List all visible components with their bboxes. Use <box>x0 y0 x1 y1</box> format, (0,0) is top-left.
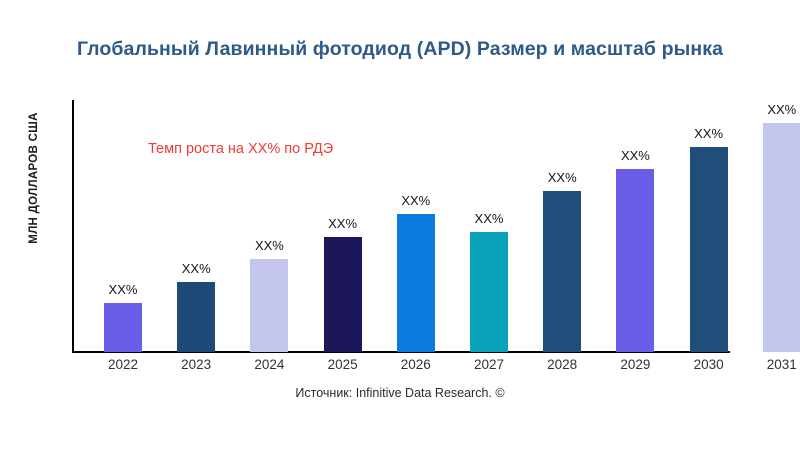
plot-area: XX%XX%XX%XX%XX%XX%XX%XX%XX%XX% <box>72 100 782 352</box>
bar-2026[interactable] <box>397 214 435 352</box>
x-tick-label-2025: 2025 <box>313 357 373 372</box>
bar-group-2030: XX% <box>690 100 728 352</box>
x-tick-label-2027: 2027 <box>459 357 519 372</box>
bar-2022[interactable] <box>104 303 142 352</box>
x-tick-label-2029: 2029 <box>605 357 665 372</box>
bar-group-2029: XX% <box>616 100 654 352</box>
x-tick-label-2024: 2024 <box>239 357 299 372</box>
bar-2025[interactable] <box>324 237 362 352</box>
y-axis-label: МЛН ДОЛЛАРОВ США <box>28 48 40 308</box>
bar-2028[interactable] <box>543 191 581 352</box>
bar-group-2025: XX% <box>324 100 362 352</box>
bar-2023[interactable] <box>177 282 215 352</box>
bar-2029[interactable] <box>616 169 654 352</box>
x-axis-tick-labels: 2022202320242025202620272028202920302031 <box>72 357 782 379</box>
bar-value-label-2027: XX% <box>459 211 519 226</box>
x-tick-label-2030: 2030 <box>679 357 739 372</box>
bar-value-label-2026: XX% <box>386 193 446 208</box>
source-note: Источник: Infinitive Data Research. © <box>0 386 800 400</box>
bar-group-2027: XX% <box>470 100 508 352</box>
x-tick-label-2031: 2031 <box>752 357 800 372</box>
bar-value-label-2030: XX% <box>679 126 739 141</box>
bar-value-label-2023: XX% <box>166 261 226 276</box>
bar-group-2031: XX% <box>763 100 800 352</box>
bar-value-label-2028: XX% <box>532 170 592 185</box>
bar-group-2028: XX% <box>543 100 581 352</box>
bar-2024[interactable] <box>250 259 288 352</box>
bar-value-label-2025: XX% <box>313 216 373 231</box>
bar-group-2022: XX% <box>104 100 142 352</box>
bar-value-label-2022: XX% <box>93 282 153 297</box>
bar-value-label-2031: XX% <box>752 102 800 117</box>
bar-group-2024: XX% <box>250 100 288 352</box>
bar-value-label-2024: XX% <box>239 238 299 253</box>
chart-title: Глобальный Лавинный фотодиод (APD) Разме… <box>0 38 800 61</box>
bar-2027[interactable] <box>470 232 508 352</box>
x-tick-label-2023: 2023 <box>166 357 226 372</box>
bar-group-2023: XX% <box>177 100 215 352</box>
bar-group-2026: XX% <box>397 100 435 352</box>
bar-2031[interactable] <box>763 123 800 352</box>
bar-2030[interactable] <box>690 147 728 352</box>
x-tick-label-2026: 2026 <box>386 357 446 372</box>
chart-container: Глобальный Лавинный фотодиод (APD) Разме… <box>0 0 800 450</box>
x-tick-label-2022: 2022 <box>93 357 153 372</box>
bar-value-label-2029: XX% <box>605 148 665 163</box>
x-tick-label-2028: 2028 <box>532 357 592 372</box>
